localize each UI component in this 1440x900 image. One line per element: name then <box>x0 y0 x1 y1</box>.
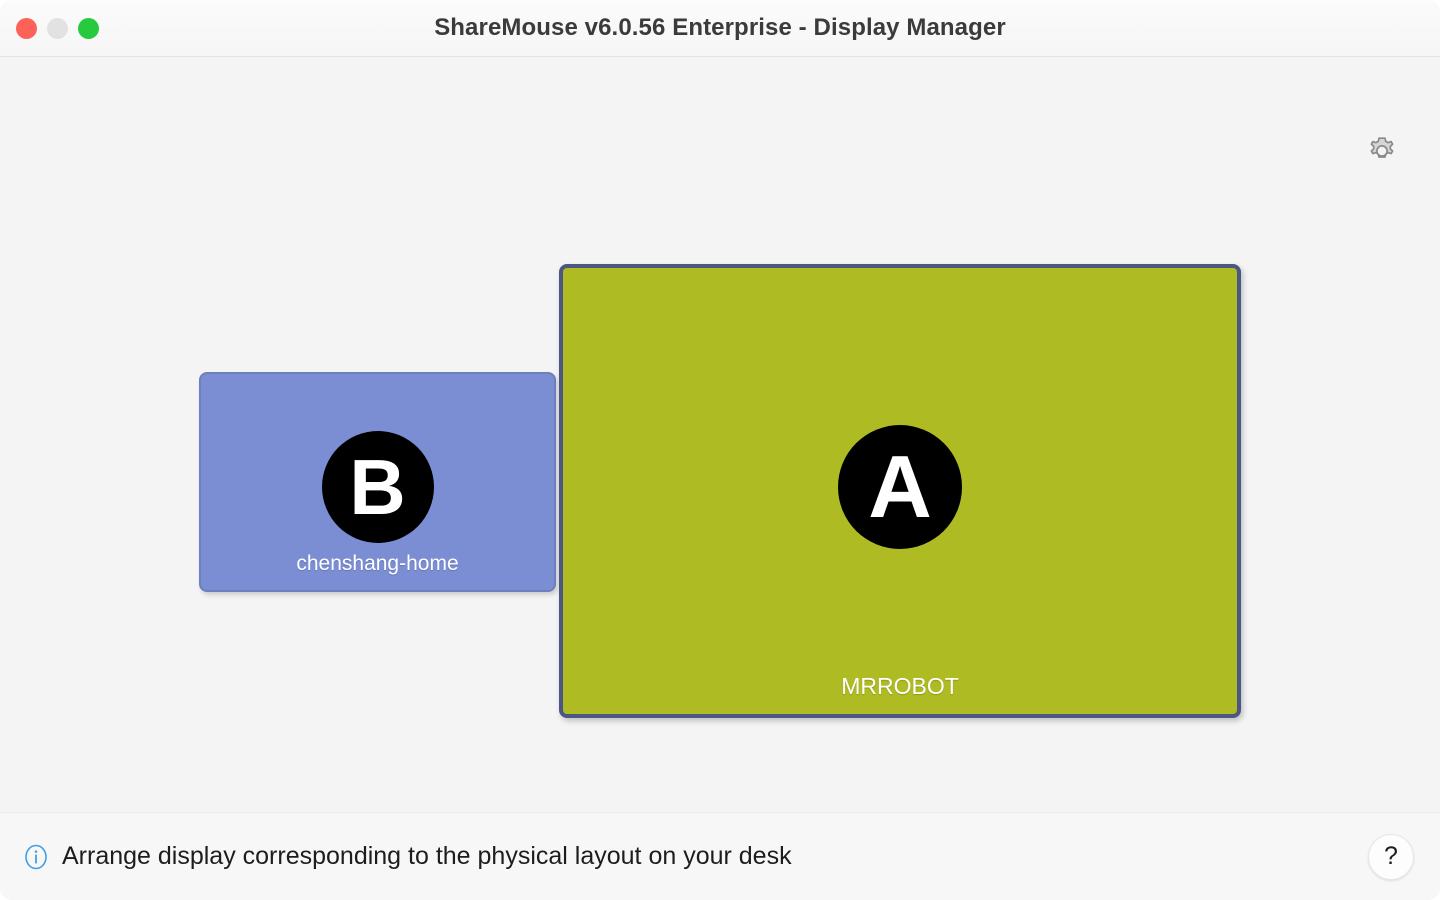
display-badge-b: B <box>322 431 434 543</box>
status-message: Arrange display corresponding to the phy… <box>62 842 1368 871</box>
title-bar: ShareMouse v6.0.56 Enterprise - Display … <box>0 0 1440 57</box>
window-title: ShareMouse v6.0.56 Enterprise - Display … <box>0 14 1440 42</box>
gear-icon <box>1364 133 1400 174</box>
display-name-b: chenshang-home <box>201 552 554 576</box>
settings-button[interactable] <box>1360 131 1404 175</box>
display-arrangement-canvas[interactable]: B chenshang-home A MRROBOT <box>0 57 1440 812</box>
status-bar: Arrange display corresponding to the phy… <box>0 812 1440 900</box>
help-button[interactable]: ? <box>1368 834 1414 880</box>
app-window: ShareMouse v6.0.56 Enterprise - Display … <box>0 0 1440 900</box>
zoom-button[interactable] <box>78 18 99 39</box>
display-tile-a[interactable]: A MRROBOT <box>559 264 1241 718</box>
display-tile-b[interactable]: B chenshang-home <box>199 372 556 592</box>
info-circle-icon <box>22 843 50 871</box>
close-button[interactable] <box>16 18 37 39</box>
display-badge-a: A <box>838 425 962 549</box>
minimize-button[interactable] <box>47 18 68 39</box>
window-controls <box>16 0 99 56</box>
display-name-a: MRROBOT <box>563 673 1237 700</box>
